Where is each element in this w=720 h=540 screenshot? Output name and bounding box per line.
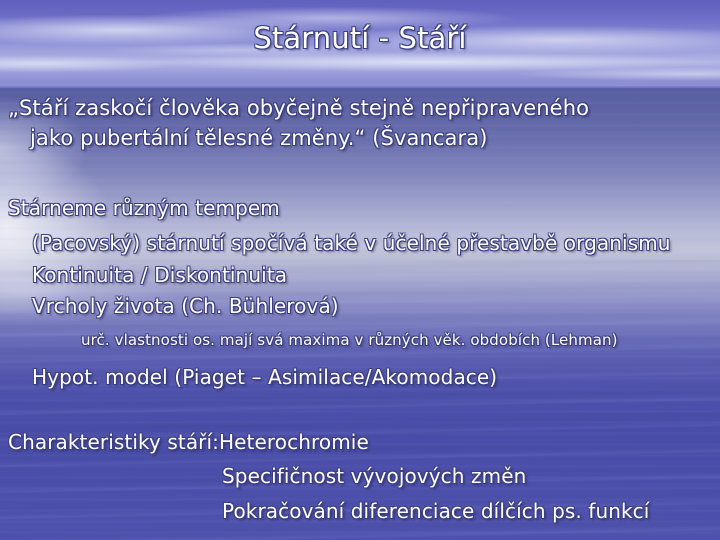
aging-model-piaget: Hypot. model (Piaget – Asimilace/Akomoda… — [32, 365, 497, 389]
characteristics-item-specificnost: Specifičnost vývojových změn — [222, 464, 526, 488]
presentation-slide: Stárnutí - Stáří „Stáří zaskočí člověka … — [0, 0, 720, 540]
quote-line-2: jako pubertální tělesné změny.“ (Švancar… — [30, 126, 487, 150]
aging-item-kontinuita: Kontinuita / Diskontinuita — [32, 263, 287, 287]
quote-line-1: „Stáří zaskočí člověka obyčejně stejně n… — [8, 96, 589, 120]
slide-content: Stárnutí - Stáří „Stáří zaskočí člověka … — [0, 0, 720, 540]
aging-item-pacovsky: (Pacovský) stárnutí spočívá také v účeln… — [32, 231, 671, 255]
characteristics-item-pokracovani: Pokračování diferenciace dílčích ps. fun… — [222, 499, 649, 523]
aging-heading: Stárneme různým tempem — [8, 196, 280, 220]
aging-subnote-lehman: urč. vlastnosti os. mají svá maxima v rů… — [81, 331, 618, 349]
characteristics-heading: Charakteristiky stáří:Heterochromie — [8, 430, 369, 454]
aging-item-vrcholy: Vrcholy života (Ch. Bühlerová) — [32, 294, 339, 318]
slide-title: Stárnutí - Stáří — [0, 21, 720, 55]
